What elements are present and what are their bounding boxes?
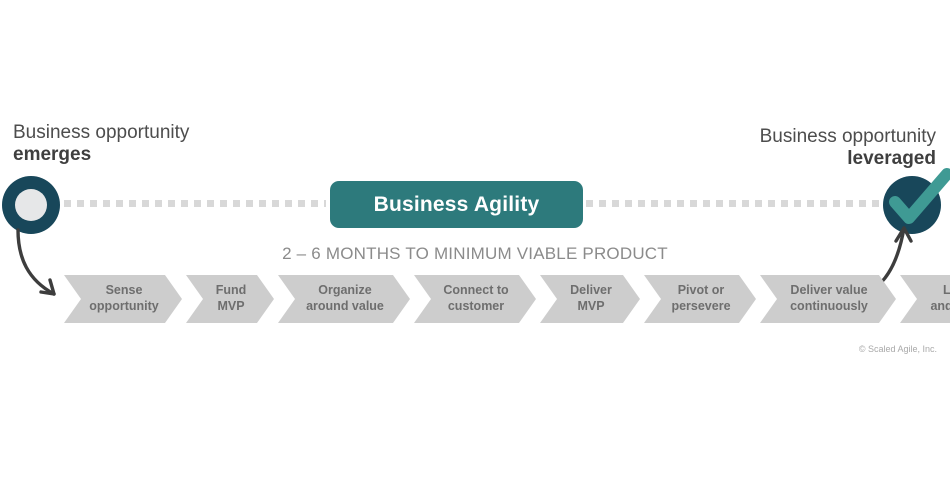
business-agility-banner: Business Agility [330,181,583,228]
process-step-label: Pivot or persevere [657,283,742,314]
process-step-chevrons: Sense opportunityFund MVPOrganize around… [64,275,950,323]
process-step-label: Deliver value continuously [776,283,880,314]
right-endpoint-label: Business opportunity leveraged [760,126,936,171]
process-step-chevron[interactable]: Deliver MVP [540,275,640,323]
process-step-label: Fund MVP [202,283,259,314]
process-step-label: Deliver MVP [556,283,624,314]
process-step-chevron[interactable]: Sense opportunity [64,275,182,323]
process-step-chevron[interactable]: Pivot or persevere [644,275,756,323]
process-step-label: Sense opportunity [75,283,170,314]
timeline-subtitle: 2 – 6 MONTHS TO MINIMUM VIABLE PRODUCT [0,244,950,264]
ring-circle-icon [2,176,60,234]
process-step-chevron[interactable]: Learn and adapt [900,275,950,323]
process-step-label: Connect to customer [429,283,520,314]
left-endpoint-label: Business opportunity emerges [13,122,189,167]
process-step-label: Organize around value [292,283,396,314]
ring-circle-inner [15,189,47,221]
dotted-rail-right [586,200,883,207]
diagram-canvas: Business opportunity emerges Business op… [0,0,950,500]
process-step-chevron[interactable]: Deliver value continuously [760,275,896,323]
left-endpoint-label-line2: emerges [13,144,189,166]
dotted-rail-left [64,200,326,207]
left-endpoint-label-line1: Business opportunity [13,122,189,144]
copyright-notice: © Scaled Agile, Inc. [859,344,937,354]
process-step-chevron[interactable]: Connect to customer [414,275,536,323]
business-agility-banner-label: Business Agility [374,193,540,217]
process-step-chevron[interactable]: Organize around value [278,275,410,323]
process-step-chevron[interactable]: Fund MVP [186,275,274,323]
process-step-label: Learn and adapt [916,283,950,314]
right-endpoint-label-line1: Business opportunity [760,126,936,148]
